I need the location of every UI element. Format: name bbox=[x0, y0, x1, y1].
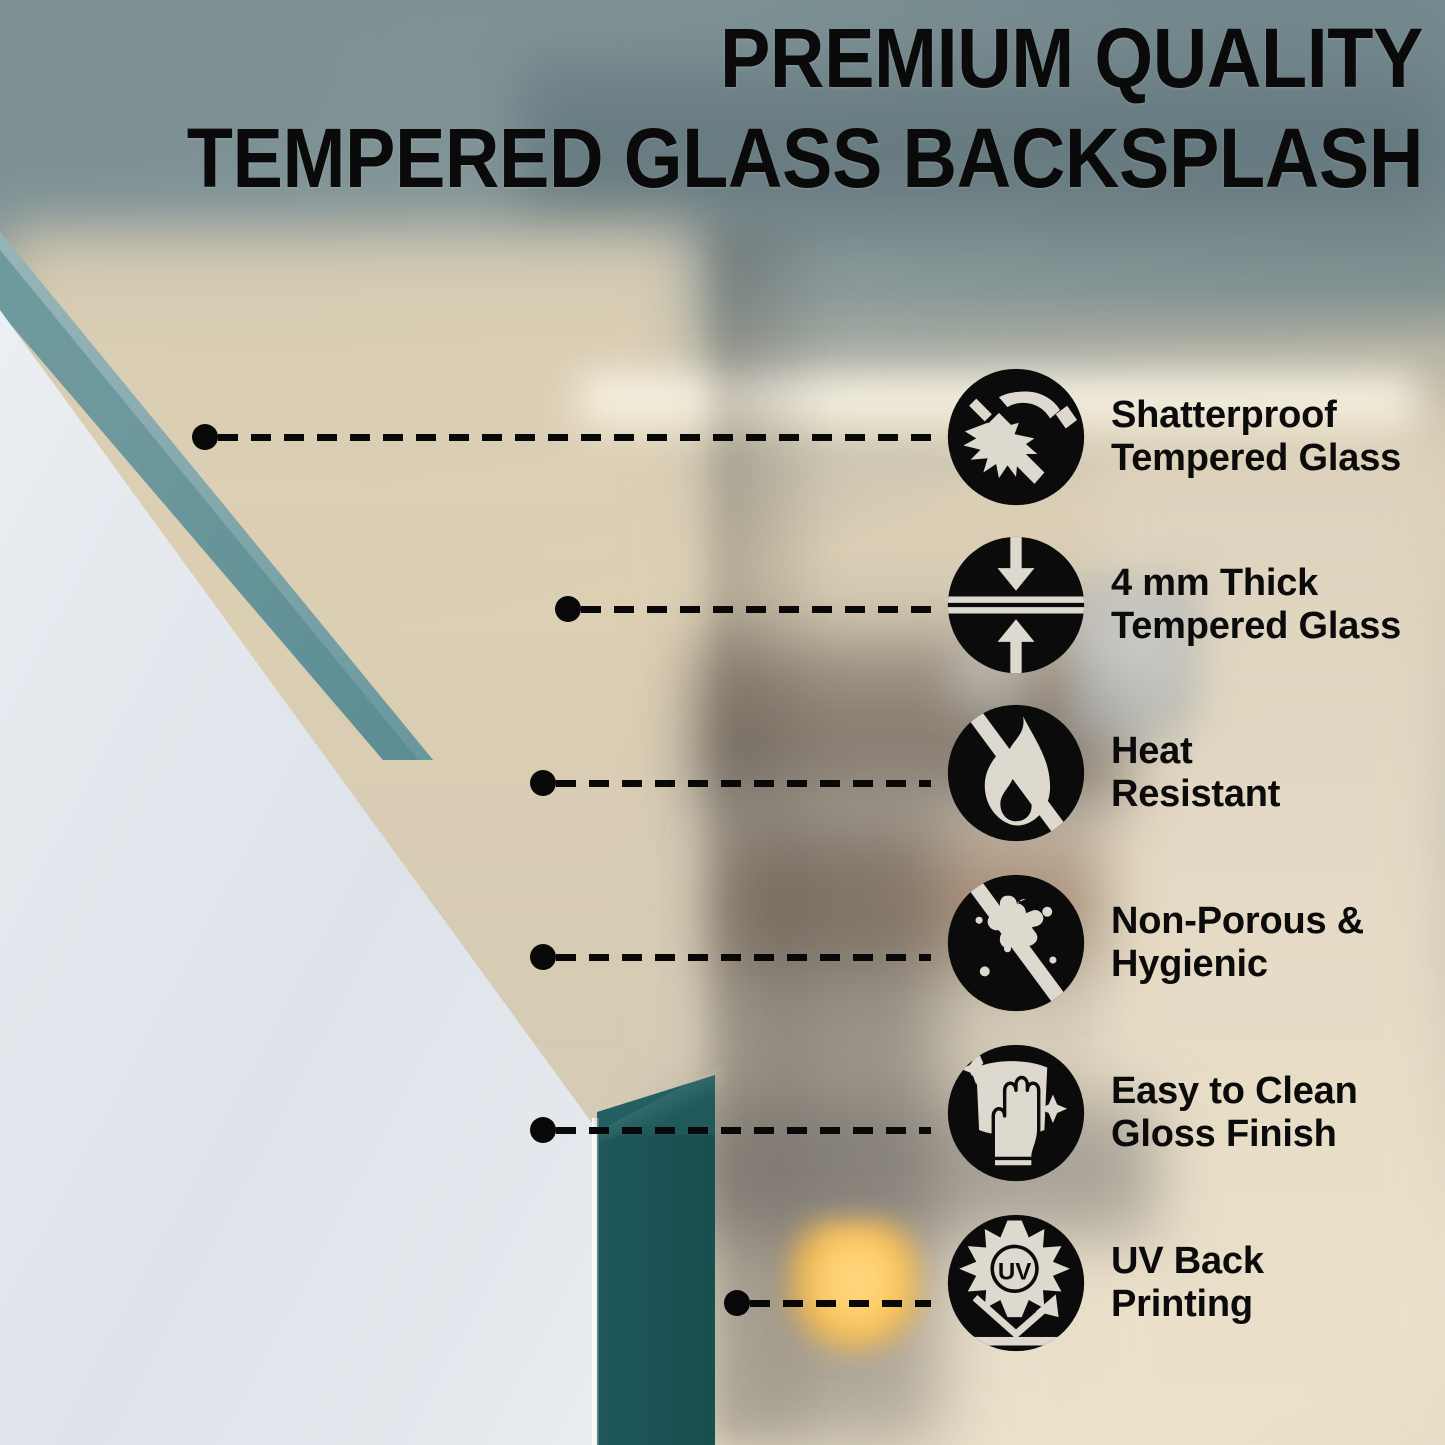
feature-label-line-2: Hygienic bbox=[1111, 943, 1268, 985]
product-infographic: PREMIUM QUALITY TEMPERED GLASS BACKSPLAS… bbox=[0, 0, 1445, 1445]
flame-no-heat-icon bbox=[945, 702, 1087, 844]
callout-dash bbox=[218, 434, 931, 441]
feature-label-line-1: Easy to Clean bbox=[1111, 1070, 1358, 1112]
callout-dash bbox=[556, 780, 931, 787]
callout-dash bbox=[581, 606, 931, 613]
callout-dot bbox=[192, 424, 218, 450]
callout-dash bbox=[556, 1127, 931, 1134]
callout-dot bbox=[530, 944, 556, 970]
callout-line-4 bbox=[543, 950, 931, 964]
feature-heat-resistant: HeatResistant bbox=[945, 702, 1280, 844]
uv-sun-reflect-icon: UV bbox=[945, 1212, 1087, 1354]
feature-uv-printing: UV UV BackPrinting bbox=[945, 1212, 1264, 1354]
callout-line-3 bbox=[543, 776, 931, 790]
glass-panel bbox=[0, 0, 760, 1445]
callout-line-5 bbox=[543, 1123, 931, 1137]
feature-label-line-2: Tempered Glass bbox=[1111, 605, 1401, 647]
feature-label: ShatterproofTempered Glass bbox=[1111, 394, 1401, 481]
feature-label-line-1: Heat bbox=[1111, 730, 1193, 772]
panel-face-edge-highlight bbox=[592, 1118, 599, 1445]
wiping-hand-sparkle-icon bbox=[945, 1042, 1087, 1184]
uv-icon-text: UV bbox=[998, 1258, 1032, 1285]
panel-shadow bbox=[712, 232, 832, 1445]
headline-line-2: TEMPERED GLASS BACKSPLASH bbox=[142, 116, 1423, 202]
hammer-shatterproof-icon bbox=[945, 366, 1087, 508]
feature-label-line-2: Tempered Glass bbox=[1111, 437, 1401, 479]
germ-no-bacteria-icon bbox=[945, 872, 1087, 1014]
feature-thickness: 4 mm ThickTempered Glass bbox=[945, 534, 1401, 676]
feature-shatterproof: ShatterproofTempered Glass bbox=[945, 366, 1401, 508]
page-title: PREMIUM QUALITY TEMPERED GLASS BACKSPLAS… bbox=[0, 16, 1423, 201]
callout-dash bbox=[750, 1300, 931, 1307]
feature-label: HeatResistant bbox=[1111, 730, 1280, 817]
feature-label-line-2: Printing bbox=[1111, 1283, 1253, 1325]
feature-label-line-2: Resistant bbox=[1111, 773, 1280, 815]
callout-line-2 bbox=[568, 602, 931, 616]
feature-label-line-1: 4 mm Thick bbox=[1111, 562, 1318, 604]
feature-label-line-1: Non-Porous & bbox=[1111, 900, 1364, 942]
callout-dot bbox=[724, 1290, 750, 1316]
callout-dot bbox=[530, 1117, 556, 1143]
feature-easy-clean: Easy to CleanGloss Finish bbox=[945, 1042, 1358, 1184]
feature-label: Easy to CleanGloss Finish bbox=[1111, 1070, 1358, 1157]
feature-label-line-1: UV Back bbox=[1111, 1240, 1264, 1282]
feature-label-line-2: Gloss Finish bbox=[1111, 1113, 1337, 1155]
callout-dash bbox=[556, 954, 931, 961]
callout-line-1 bbox=[205, 430, 931, 444]
panel-face bbox=[0, 0, 600, 1445]
feature-label: 4 mm ThickTempered Glass bbox=[1111, 562, 1401, 649]
thickness-arrows-icon bbox=[945, 534, 1087, 676]
feature-hygienic: Non-Porous &Hygienic bbox=[945, 872, 1364, 1014]
callout-line-6 bbox=[737, 1296, 931, 1310]
callout-dot bbox=[530, 770, 556, 796]
callout-dot bbox=[555, 596, 581, 622]
panel-right-edge bbox=[597, 1112, 715, 1445]
feature-label: UV BackPrinting bbox=[1111, 1240, 1264, 1327]
headline-line-1: PREMIUM QUALITY bbox=[142, 16, 1423, 102]
feature-label-line-1: Shatterproof bbox=[1111, 394, 1337, 436]
feature-label: Non-Porous &Hygienic bbox=[1111, 900, 1364, 987]
